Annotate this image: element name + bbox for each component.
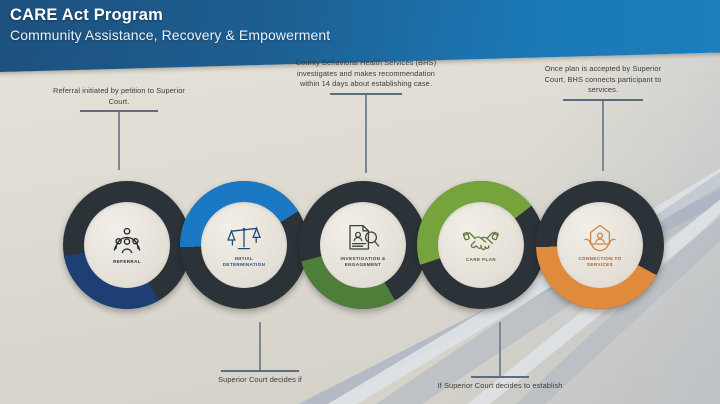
callout-initial-determination-text: Superior Court decides if — [185, 375, 335, 386]
document-magnifier-icon — [346, 222, 380, 253]
callout-care-plan: If Superior Court decides to establish — [410, 322, 590, 391]
step-initial-determination-label: INITIAL DETERMINATION — [223, 256, 266, 268]
step-investigation-engagement-label: INVESTIGATION & ENGAGEMENT — [340, 256, 385, 268]
care-act-program-infographic: CARE Act Program Community Assistance, R… — [0, 0, 720, 404]
step-connection-to-services-hub: CONNECTION TO SERVICES — [557, 202, 643, 288]
step-connection-to-services-label: CONNECTION TO SERVICES — [578, 256, 621, 268]
step-initial-determination[interactable]: INITIAL DETERMINATION — [180, 181, 308, 309]
callout-connection: Once plan is accepted by Superior Court,… — [538, 64, 668, 171]
scales-of-justice-icon — [227, 223, 261, 253]
callout-investigation: County Behavioral Health Services (BHS) … — [292, 58, 440, 173]
hands-house-icon — [583, 223, 617, 253]
callout-connection-text: Once plan is accepted by Superior Court,… — [538, 64, 668, 96]
step-referral[interactable]: REFERRAL — [63, 181, 191, 309]
step-connection-to-services[interactable]: CONNECTION TO SERVICES — [536, 181, 664, 309]
step-investigation-engagement[interactable]: INVESTIGATION & ENGAGEMENT — [299, 181, 427, 309]
step-initial-determination-hub: INITIAL DETERMINATION — [201, 202, 287, 288]
handshake-icon — [463, 228, 499, 254]
step-care-plan-hub: CARE PLAN — [438, 202, 524, 288]
callout-care-plan-text: If Superior Court decides to establish — [410, 381, 590, 392]
callout-investigation-text: County Behavioral Health Services (BHS) … — [292, 58, 440, 90]
step-referral-label: REFERRAL — [113, 259, 141, 265]
step-care-plan[interactable]: CARE PLAN — [417, 181, 545, 309]
callout-initial-determination: Superior Court decides if — [185, 322, 335, 385]
people-group-icon — [111, 226, 143, 256]
step-care-plan-label: CARE PLAN — [466, 257, 496, 263]
callout-referral: Referral initiated by petition to Superi… — [44, 86, 194, 170]
callout-referral-text: Referral initiated by petition to Superi… — [44, 86, 194, 107]
step-investigation-engagement-hub: INVESTIGATION & ENGAGEMENT — [320, 202, 406, 288]
step-referral-hub: REFERRAL — [84, 202, 170, 288]
